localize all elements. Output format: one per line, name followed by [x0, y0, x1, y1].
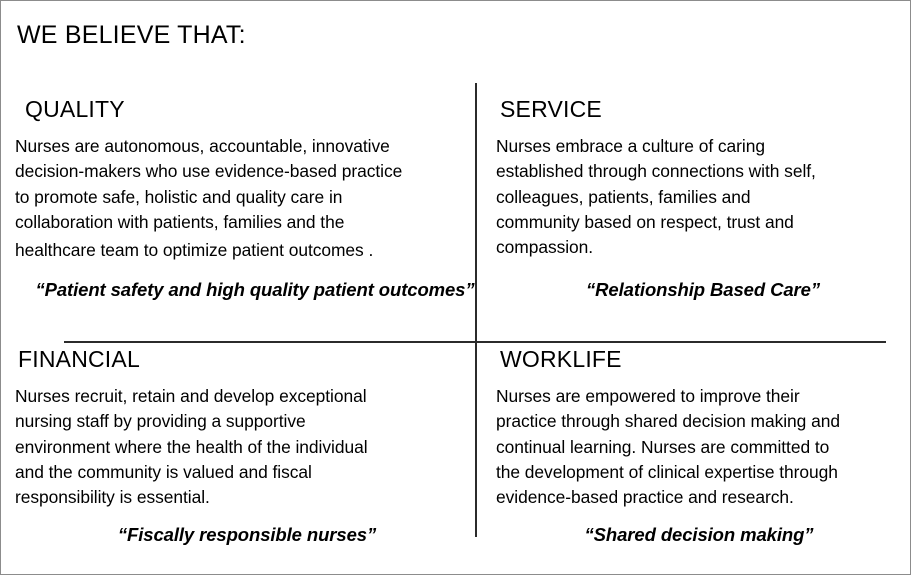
quadrant-service: SERVICE Nurses embrace a culture of cari… [496, 97, 900, 341]
body-line: Nurses recruit, retain and develop excep… [15, 384, 433, 409]
body-line: colleagues, patients, families and [496, 185, 874, 210]
quadrant-tagline-financial: “Fiscally responsible nurses” [27, 523, 467, 548]
body-line: environment where the health of the indi… [15, 435, 433, 460]
quadrant-financial: FINANCIAL Nurses recruit, retain and dev… [15, 347, 465, 569]
quadrant-tagline-service: “Relationship Based Care” [506, 278, 900, 303]
quadrant-title-financial: FINANCIAL [18, 347, 465, 372]
body-line: Nurses embrace a culture of caring [496, 134, 874, 159]
vertical-divider [475, 83, 477, 537]
body-line: collaboration with patients, families an… [15, 210, 463, 235]
body-line: Nurses are empowered to improve their [496, 384, 900, 409]
quadrant-body-financial: Nurses recruit, retain and develop excep… [15, 384, 433, 510]
page-title: WE BELIEVE THAT: [17, 21, 246, 50]
quadrant-quality: QUALITY Nurses are autonomous, accountab… [15, 97, 465, 341]
quadrant-title-quality: QUALITY [25, 97, 465, 122]
body-line: nursing staff by providing a supportive [15, 409, 433, 434]
body-line: continual learning. Nurses are committed… [496, 435, 900, 460]
body-line: evidence-based practice and research. [496, 485, 900, 510]
body-line: and the community is valued and fiscal [15, 460, 433, 485]
body-line: decision-makers who use evidence-based p… [15, 159, 463, 184]
quadrant-title-service: SERVICE [500, 97, 900, 122]
quadrant-body-service: Nurses embrace a culture of caring estab… [496, 134, 874, 260]
body-line: responsibility is essential. [15, 485, 433, 510]
body-line: community based on respect, trust and [496, 210, 874, 235]
body-line: healthcare team to optimize patient outc… [15, 235, 463, 265]
quadrant-title-worklife: WORKLIFE [500, 347, 900, 372]
quadrant-tagline-quality: “Patient safety and high quality patient… [33, 278, 477, 303]
body-line: the development of clinical expertise th… [496, 460, 900, 485]
page-header: WE BELIEVE THAT: [17, 13, 617, 57]
quadrant-body-quality: Nurses are autonomous, accountable, inno… [15, 134, 463, 265]
quadrant-worklife: WORKLIFE Nurses are empowered to improve… [496, 347, 900, 569]
body-line: to promote safe, holistic and quality ca… [15, 185, 463, 210]
body-line: compassion. [496, 235, 874, 260]
belief-statement-page: WE BELIEVE THAT: QUALITY Nurses are auto… [0, 0, 911, 575]
body-line: established through connections with sel… [496, 159, 874, 184]
body-line: Nurses are autonomous, accountable, inno… [15, 134, 463, 159]
quadrant-body-worklife: Nurses are empowered to improve their pr… [496, 384, 900, 510]
body-line: practice through shared decision making … [496, 409, 900, 434]
quadrant-tagline-worklife: “Shared decision making” [502, 523, 896, 548]
horizontal-divider [64, 341, 886, 343]
